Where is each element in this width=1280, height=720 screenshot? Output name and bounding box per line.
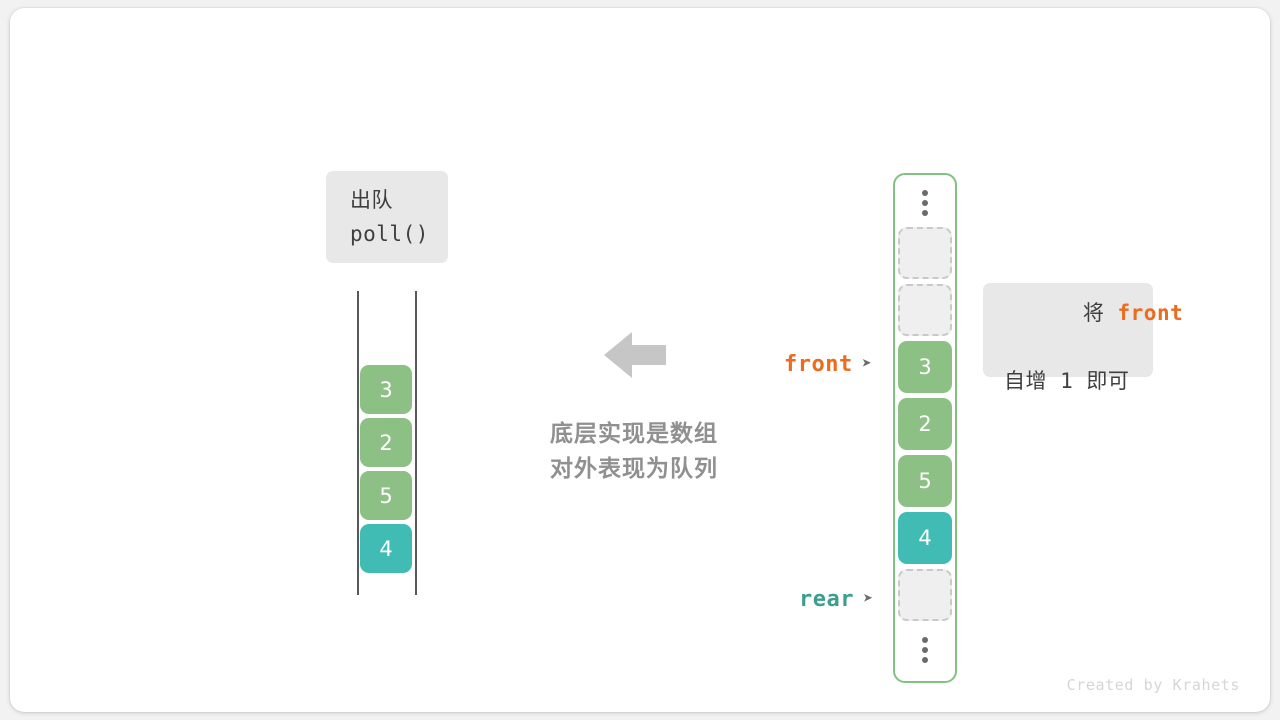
queue-tube-right-line — [415, 291, 417, 595]
array-cell: 3 — [898, 341, 952, 393]
array-cell: 2 — [898, 398, 952, 450]
rear-pointer-text: rear — [799, 587, 854, 612]
array-cell — [898, 569, 952, 621]
poll-operation-label: 出队 poll() — [326, 171, 448, 263]
poll-label-line-1: 出队 — [350, 183, 448, 217]
rear-pointer-caret-icon: ➤ — [863, 591, 874, 608]
diagram-canvas: 出队 poll() 3254 底层实现是数组 对外表现为队列 front ➤ r… — [10, 8, 1270, 712]
front-note-line-2: 自增 1 即可 — [1004, 364, 1153, 398]
caption-line-2: 对外表现为队列 — [522, 451, 746, 486]
array-cell — [898, 284, 952, 336]
array-cell: 5 — [898, 455, 952, 507]
watermark: Created by Krahets — [1067, 676, 1240, 694]
front-note-keyword: front — [1118, 301, 1184, 325]
queue-cell-list: 3254 — [360, 365, 412, 577]
front-note-prefix: 将 — [1083, 301, 1118, 325]
front-pointer-label: front ➤ — [784, 352, 872, 377]
front-pointer-caret-icon: ➤ — [862, 356, 873, 373]
array-cell: 4 — [898, 512, 952, 564]
caption-text: 底层实现是数组 对外表现为队列 — [522, 416, 746, 486]
array-cell-list: 3254 — [898, 227, 952, 626]
front-note-line-1: 将 front — [1004, 262, 1153, 364]
array-cell — [898, 227, 952, 279]
queue-cell: 4 — [360, 524, 412, 573]
front-pointer-text: front — [784, 352, 853, 377]
caption-line-1: 底层实现是数组 — [522, 416, 746, 451]
queue-cell: 2 — [360, 418, 412, 467]
front-increment-note: 将 front 自增 1 即可 — [983, 283, 1153, 377]
left-arrow-icon — [604, 330, 666, 380]
rear-pointer-label: rear ➤ — [799, 587, 874, 612]
queue-tube-left-line — [357, 291, 359, 595]
queue-cell: 5 — [360, 471, 412, 520]
vertical-ellipsis-icon-top — [898, 181, 952, 225]
vertical-ellipsis-icon-bottom — [898, 628, 952, 672]
array-container: 3254 — [893, 173, 957, 683]
queue-cell: 3 — [360, 365, 412, 414]
poll-label-line-2: poll() — [350, 217, 448, 251]
